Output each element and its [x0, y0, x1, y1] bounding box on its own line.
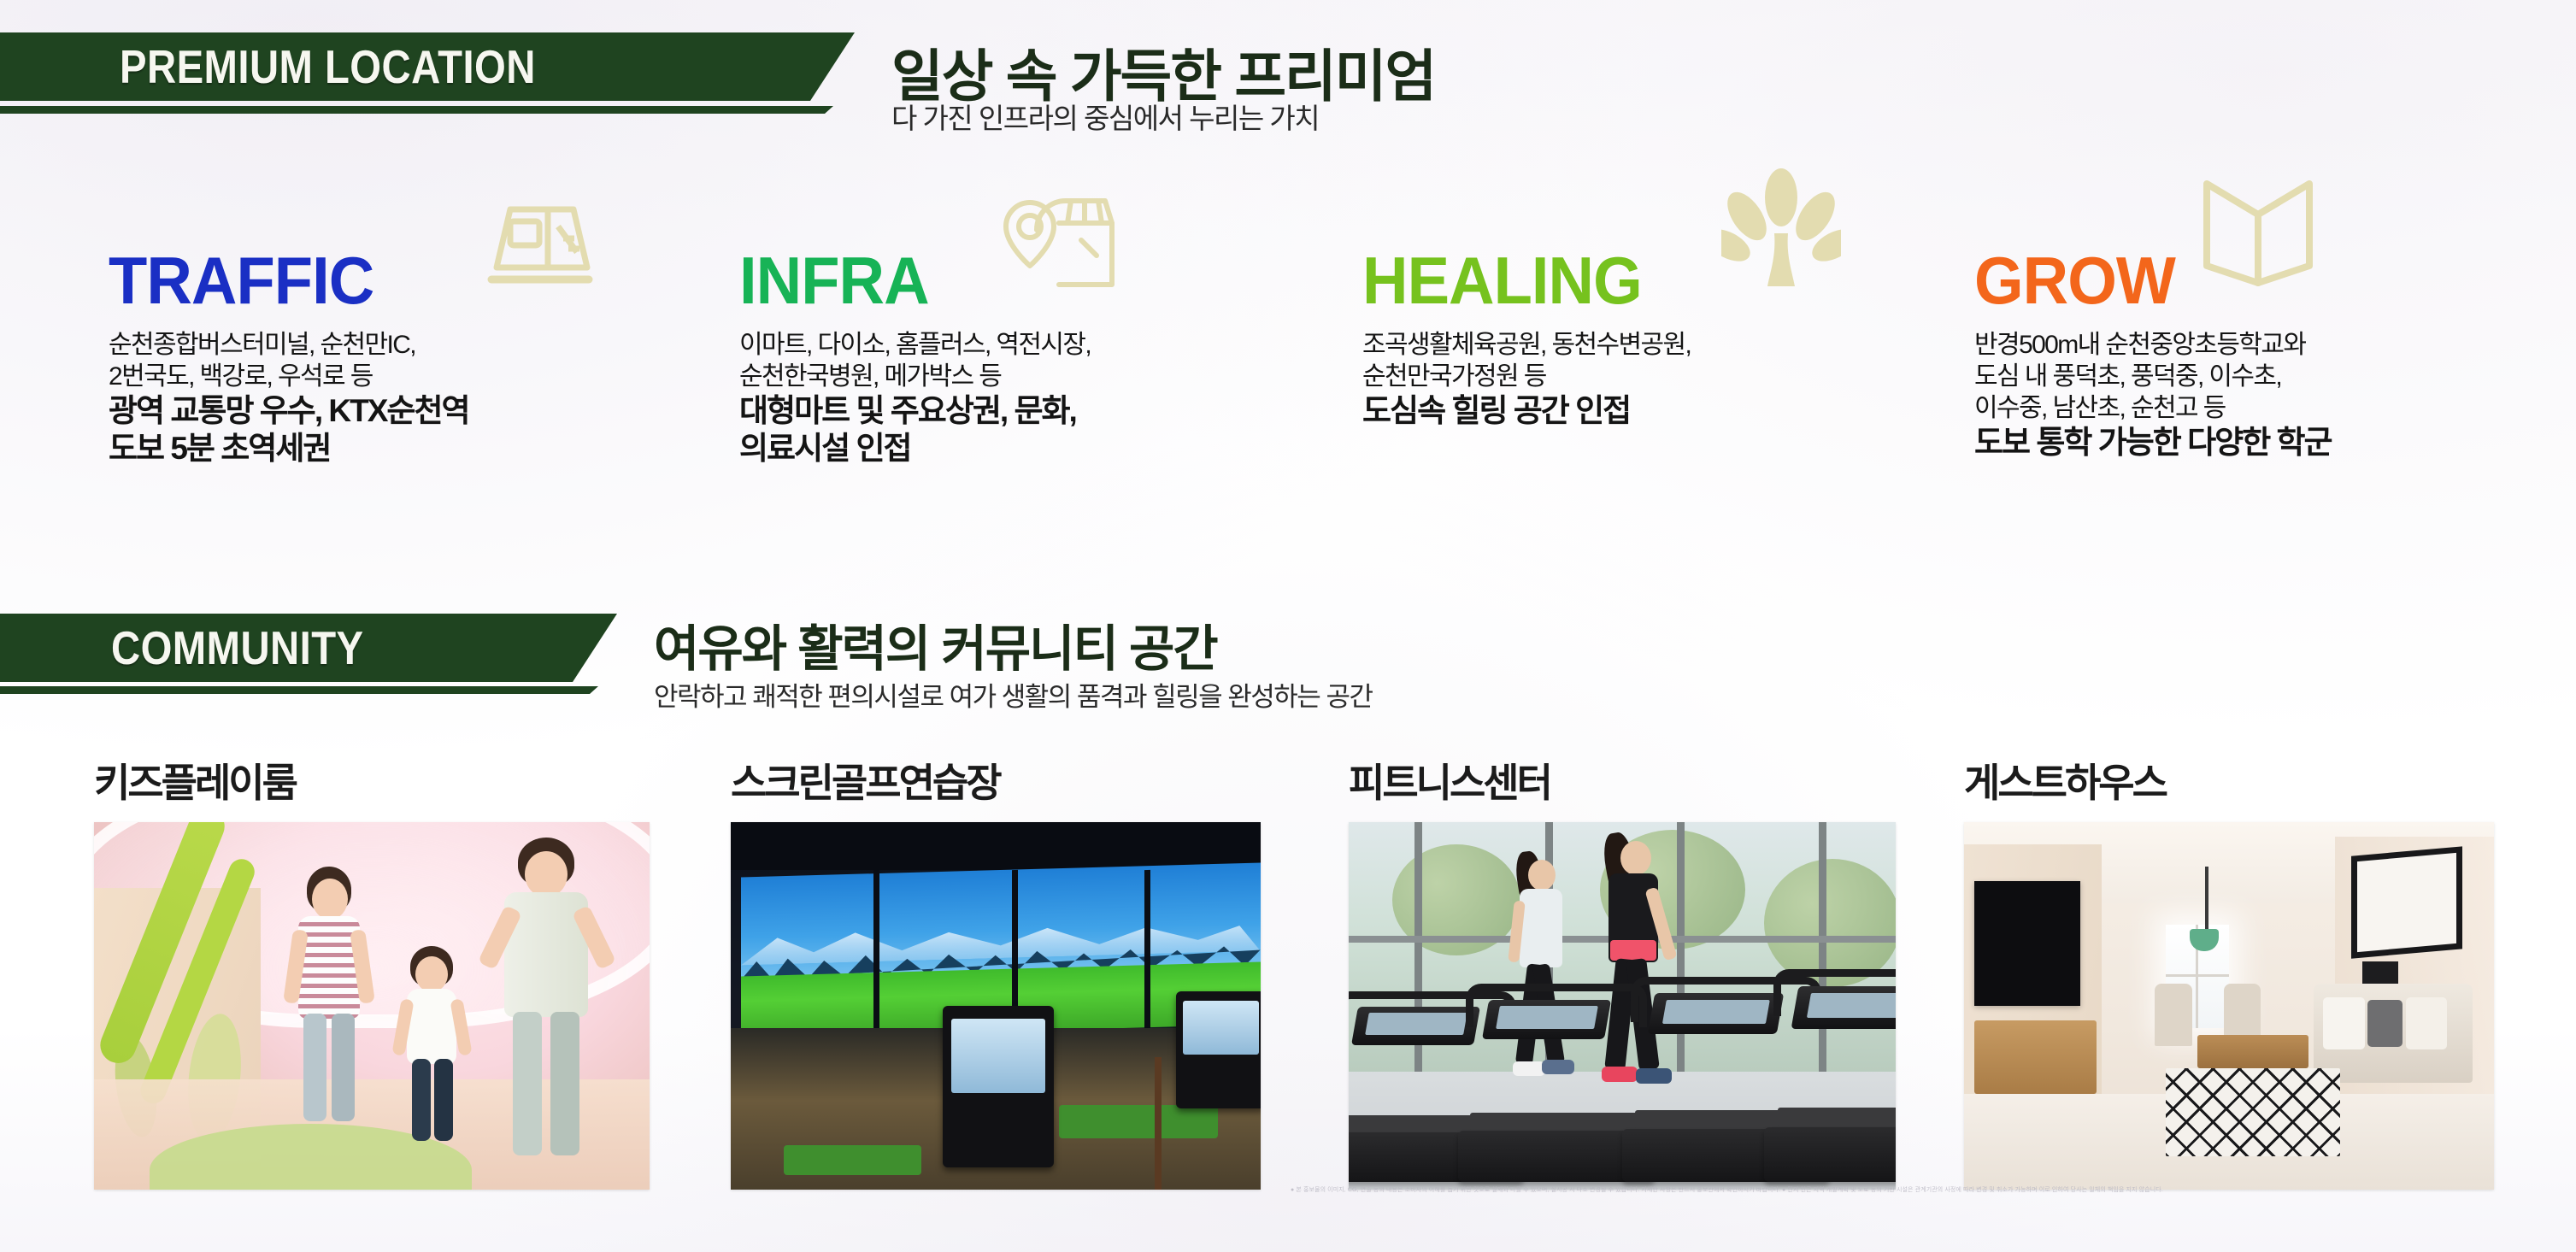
- outdoor-foliage: [1764, 859, 1896, 987]
- feature-detail-line: 조곡생활체육공원, 동천수변공원,: [1362, 329, 1944, 361]
- pendant-lamp-shade: [2190, 929, 2219, 951]
- putting-mat: [784, 1145, 921, 1174]
- feature-lines-healing: 조곡생활체육공원, 동천수변공원, 순천만국가정원 등 도심속 힐링 공간 인접: [1362, 329, 1944, 430]
- guest-house-scene: [1964, 822, 2494, 1190]
- tree-icon: [1721, 167, 1841, 299]
- feature-column-grow: GROW 반경500m내 순천중앙초등학교와 도심 내 풍덕초, 풍덕중, 이수…: [1974, 244, 2573, 461]
- stanchion-post: [1155, 1057, 1162, 1190]
- premium-location-ribbon-underline: [0, 106, 833, 114]
- feature-word-healing: HEALING: [1362, 247, 1642, 314]
- feature-head-grow: GROW: [1974, 244, 2573, 317]
- pendant-cord: [2205, 867, 2208, 932]
- feature-detail-line: 도심 내 풍덕초, 풍덕중, 이수초,: [1974, 361, 2573, 392]
- feature-highlight-line: 도보 5분 초역세권: [109, 430, 690, 467]
- feature-highlight-line: 광역 교통망 우수, KTX순천역: [109, 392, 690, 430]
- amenity-label: 게스트하우스: [1964, 752, 2166, 808]
- screen-divider: [873, 870, 879, 1032]
- coffee-table: [2197, 1035, 2308, 1068]
- treadmill: [1764, 969, 1896, 1182]
- feature-column-infra: INFRA 이마트, 다이소, 홈플러스, 역전시장, 순천한국병원, 메가박스…: [739, 244, 1286, 467]
- feature-head-infra: INFRA: [739, 244, 1286, 317]
- feature-column-healing: HEALING 조곡생활체육공원, 동천수변공원, 순천만국가정원 등 도심속 …: [1362, 244, 1944, 430]
- community-ribbon-label: COMMUNITY: [111, 620, 364, 675]
- feature-word-traffic: TRAFFIC: [109, 247, 373, 314]
- brochure-sheet: PREMIUM LOCATION 일상 속 가득한 프리미엄 다 가진 인프라의…: [0, 0, 2576, 1252]
- feature-highlight-line: 의료시설 인접: [739, 430, 1286, 467]
- feature-detail-line: 이마트, 다이소, 홈플러스, 역전시장,: [739, 329, 1286, 361]
- feature-word-grow: GROW: [1974, 247, 2175, 314]
- ceiling: [731, 822, 1261, 870]
- premium-location-ribbon: PREMIUM LOCATION: [0, 32, 855, 101]
- premium-location-ribbon-label: PREMIUM LOCATION: [120, 39, 536, 94]
- train-icon: [485, 196, 596, 294]
- fitness-center-photo: [1349, 822, 1896, 1190]
- feature-detail-line: 이수중, 남산초, 순천고 등: [1974, 392, 2573, 424]
- feature-detail-line: 순천한국병원, 메가박스 등: [739, 361, 1286, 392]
- shop-location-icon: [996, 184, 1115, 299]
- feature-detail-line: 순천만국가정원 등: [1362, 361, 1944, 392]
- child-figure: [278, 867, 380, 1149]
- feature-lines-traffic: 순천종합버스터미널, 순천만IC, 2번국도, 백강로, 우석로 등 광역 교통…: [109, 329, 690, 467]
- putting-mat: [1059, 1105, 1218, 1138]
- feature-head-traffic: TRAFFIC: [109, 244, 690, 317]
- child-figure: [391, 946, 473, 1148]
- community-title: 여유와 활력의 커뮤니티 공간: [654, 608, 1217, 680]
- golf-kiosk: [943, 1006, 1054, 1167]
- open-book-icon: [2198, 173, 2318, 297]
- kids-scene: [94, 822, 650, 1190]
- fitness-scene: [1349, 822, 1896, 1190]
- feature-highlight-line: 도심속 힐링 공간 인접: [1362, 392, 1944, 430]
- feature-word-infra: INFRA: [739, 247, 929, 314]
- feature-detail-line: 반경500m내 순천중앙초등학교와: [1974, 329, 2573, 361]
- feature-head-healing: HEALING: [1362, 244, 1944, 317]
- community-ribbon: COMMUNITY: [0, 614, 617, 682]
- amenity-label: 스크린골프연습장: [731, 752, 1000, 808]
- wall-tv: [1974, 881, 2080, 1006]
- sideboard: [1974, 1020, 2097, 1094]
- amenity-label: 피트니스센터: [1349, 752, 1550, 808]
- kids-play-room-photo: [94, 822, 650, 1190]
- guest-house-photo: [1964, 822, 2494, 1190]
- legal-fine-print: ● 본 홍보물의 이미지, CG, 연출 등의 내용은 소비자의 이해를 돕기 …: [1291, 1186, 2163, 1194]
- feature-detail-line: 순천종합버스터미널, 순천만IC,: [109, 329, 690, 361]
- child-figure: [485, 838, 614, 1164]
- feature-detail-line: 2번국도, 백강로, 우석로 등: [109, 361, 690, 392]
- premium-location-subtitle: 다 가진 인프라의 중심에서 누리는 가치: [891, 96, 1319, 137]
- amenity-label: 키즈플레이룸: [94, 752, 296, 808]
- feature-highlight-line: 대형마트 및 주요상권, 문화,: [739, 392, 1286, 430]
- feature-lines-infra: 이마트, 다이소, 홈플러스, 역전시장, 순천한국병원, 메가박스 등 대형마…: [739, 329, 1286, 467]
- golf-kiosk: [1176, 991, 1261, 1109]
- framed-artwork: [2351, 847, 2462, 960]
- golf-scene: [731, 822, 1261, 1190]
- community-ribbon-underline: [0, 686, 598, 694]
- screen-divider: [1144, 870, 1150, 1032]
- feature-highlight-line: 도보 통학 가능한 다양한 학군: [1974, 424, 2573, 461]
- feature-lines-grow: 반경500m내 순천중앙초등학교와 도심 내 풍덕초, 풍덕중, 이수초, 이수…: [1974, 329, 2573, 461]
- feature-column-traffic: TRAFFIC 순천종합버스터미널, 순천만IC, 2번국도, 백강로, 우석로…: [109, 244, 690, 467]
- community-subtitle: 안락하고 쾌적한 편의시설로 여가 생활의 품격과 힐링을 완성하는 공간: [654, 675, 1372, 714]
- screen-golf-range-photo: [731, 822, 1261, 1190]
- dining-chair: [2155, 984, 2191, 1046]
- area-rug: [2166, 1068, 2341, 1156]
